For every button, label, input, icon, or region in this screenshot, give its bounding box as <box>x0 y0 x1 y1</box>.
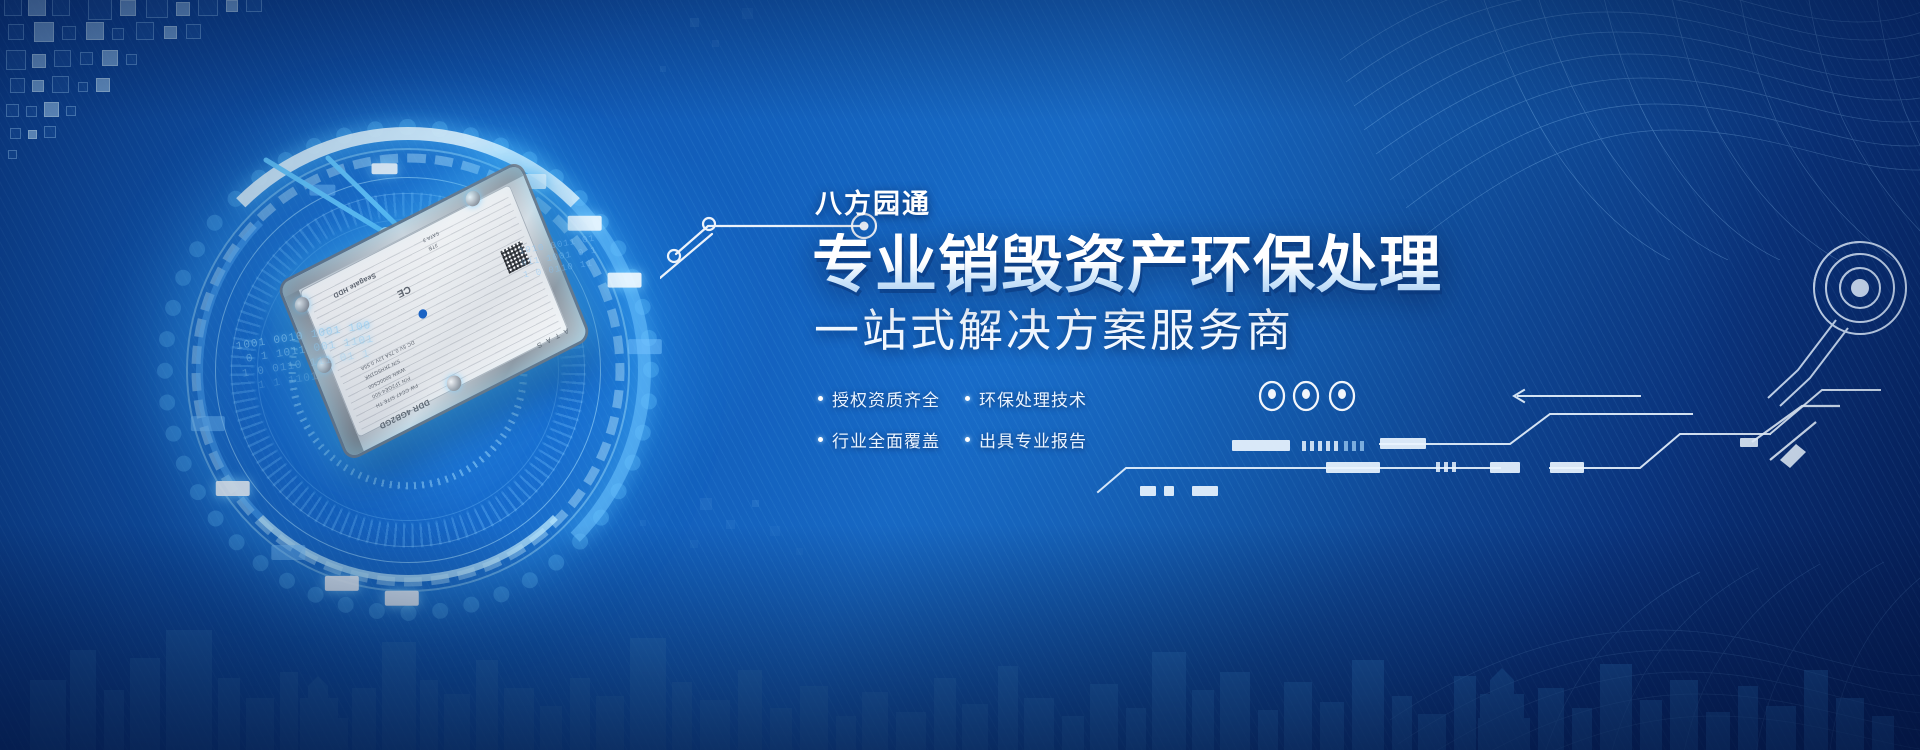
brand-name: 八方园通 <box>815 182 1572 221</box>
wireframe-mesh-bottom-right <box>1390 510 1920 750</box>
feature-label: 授权资质齐全 <box>832 386 940 411</box>
feature-list: 授权资质齐全 环保处理技术 行业全面覆盖 出具专业报告 <box>818 386 1088 452</box>
feature-item-1: 授权资质齐全 <box>818 386 941 411</box>
banner-headline: 专业销毁资产环保处理 <box>812 233 1572 298</box>
feature-item-3: 行业全面覆盖 <box>818 427 941 452</box>
bullet-dot-icon <box>965 437 970 442</box>
feature-label: 环保处理技术 <box>979 386 1087 411</box>
bullet-dot-icon <box>818 396 823 401</box>
hard-disk-drive-image: Seagate HDD SATA 3 3TB DC 5V 0.75A 12V 0… <box>280 164 589 459</box>
circuit-disc-right <box>1740 228 1920 418</box>
banner-copy-block: 八方园通 专业销毁资产环保处理 一站式解决方案服务商 授权资质齐全 环保处理技术… <box>812 182 1572 452</box>
bullet-dot-icon <box>818 437 823 442</box>
feature-label: 行业全面覆盖 <box>832 427 940 452</box>
feature-label: 出具专业报告 <box>979 427 1087 452</box>
feature-item-2: 环保处理技术 <box>965 386 1088 411</box>
banner-subheadline: 一站式解决方案服务商 <box>814 306 1572 356</box>
pixel-grid-decoration <box>0 0 420 174</box>
promotional-banner: Seagate HDD SATA 3 3TB DC 5V 0.75A 12V 0… <box>0 0 1920 750</box>
bullet-dot-icon <box>965 396 970 401</box>
feature-item-4: 出具专业报告 <box>965 427 1088 452</box>
city-skyline-silhouette <box>0 530 1920 750</box>
